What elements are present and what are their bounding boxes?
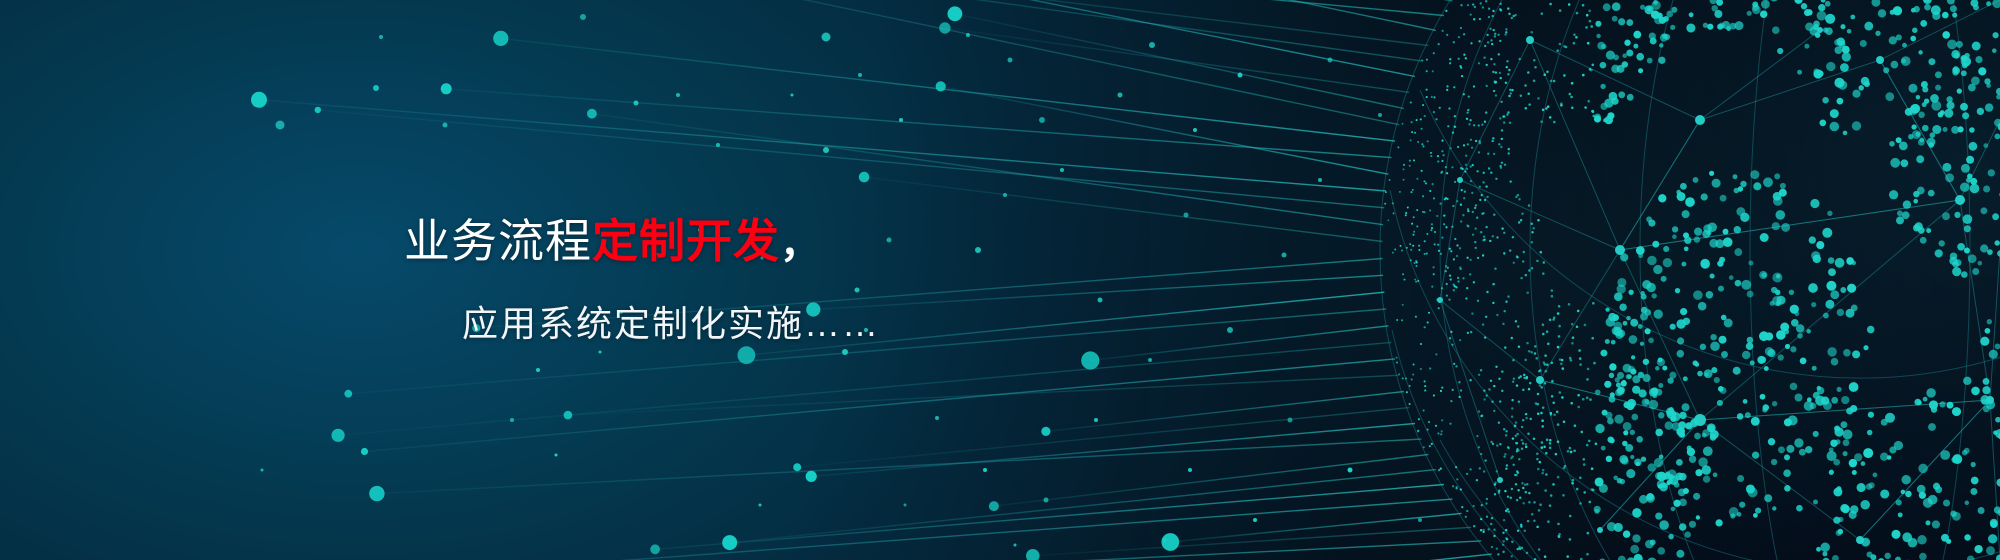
banner-root: 业务流程定制开发， 应用系统定制化实施…… [0,0,2000,560]
digital-globe-network-graphic [0,0,2000,560]
